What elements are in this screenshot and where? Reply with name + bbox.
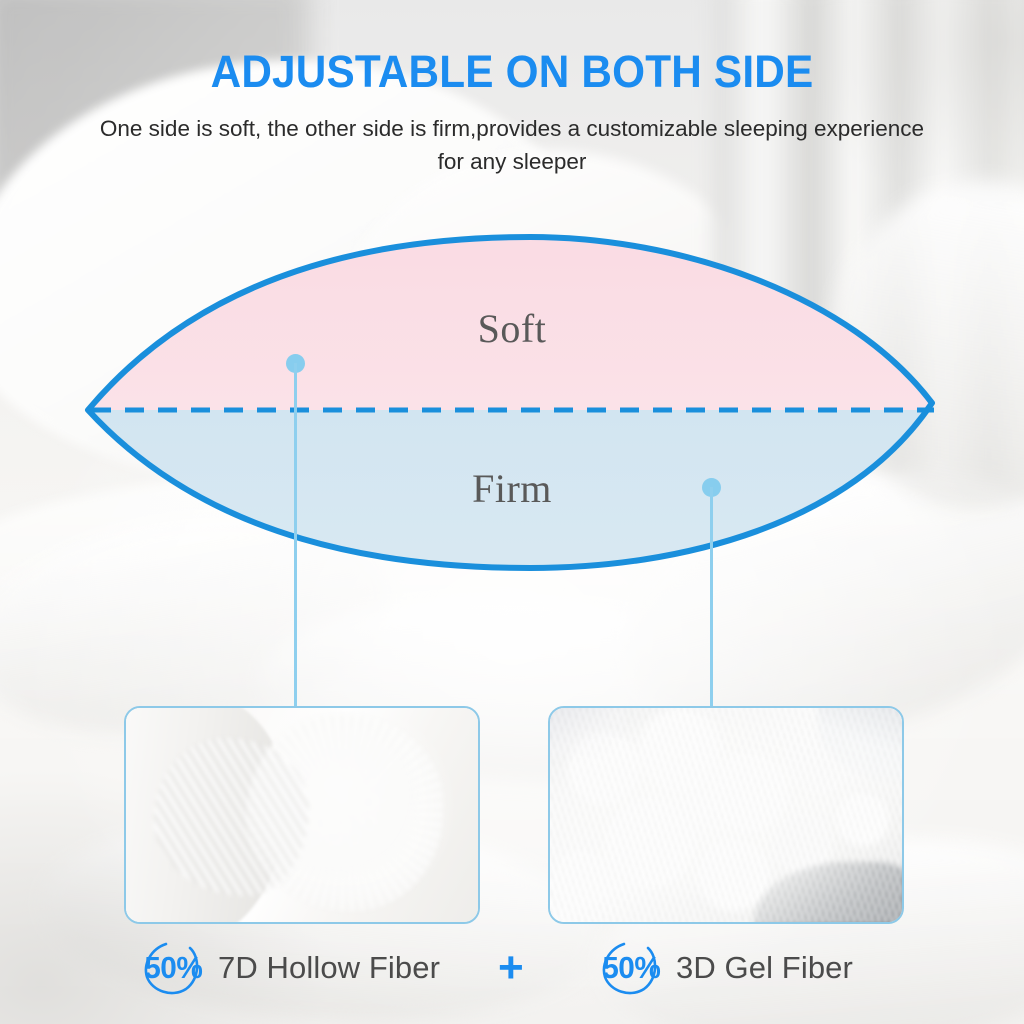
percent-value-right: 50% xyxy=(602,950,660,986)
caption-3d-gel-fiber: 50% 3D Gel Fiber xyxy=(598,940,853,996)
pillow-soft-label: Soft xyxy=(0,305,1024,352)
percent-badge-right: 50% xyxy=(598,940,664,996)
pillow-soft-zone xyxy=(60,225,970,580)
product-infographic: ADJUSTABLE ON BOTH SIDE One side is soft… xyxy=(0,0,1024,1024)
pillow-diagram xyxy=(60,225,970,580)
headline: ADJUSTABLE ON BOTH SIDE xyxy=(31,46,994,98)
pillow-firm-label: Firm xyxy=(0,465,1024,512)
plus-icon: + xyxy=(498,946,524,990)
percent-value-left: 50% xyxy=(144,950,202,986)
percent-badge-left: 50% xyxy=(140,940,206,996)
photo-3d-gel-fiber xyxy=(550,708,902,922)
fiber-bag-highlight xyxy=(548,706,627,759)
subheadline: One side is soft, the other side is firm… xyxy=(90,112,934,178)
fiber-shadow xyxy=(754,862,904,924)
material-name-right: 3D Gel Fiber xyxy=(676,950,853,986)
photo-card-7d-hollow-fiber xyxy=(124,706,480,924)
material-name-left: 7D Hollow Fiber xyxy=(218,950,440,986)
caption-7d-hollow-fiber: 50% 7D Hollow Fiber xyxy=(140,940,440,996)
fiber-fluff xyxy=(246,714,443,911)
photo-7d-hollow-fiber xyxy=(126,708,478,922)
photo-card-3d-gel-fiber xyxy=(548,706,904,924)
callout-line-right xyxy=(710,487,713,708)
fiber-bag-highlight xyxy=(818,706,904,781)
callout-line-left xyxy=(294,363,297,708)
